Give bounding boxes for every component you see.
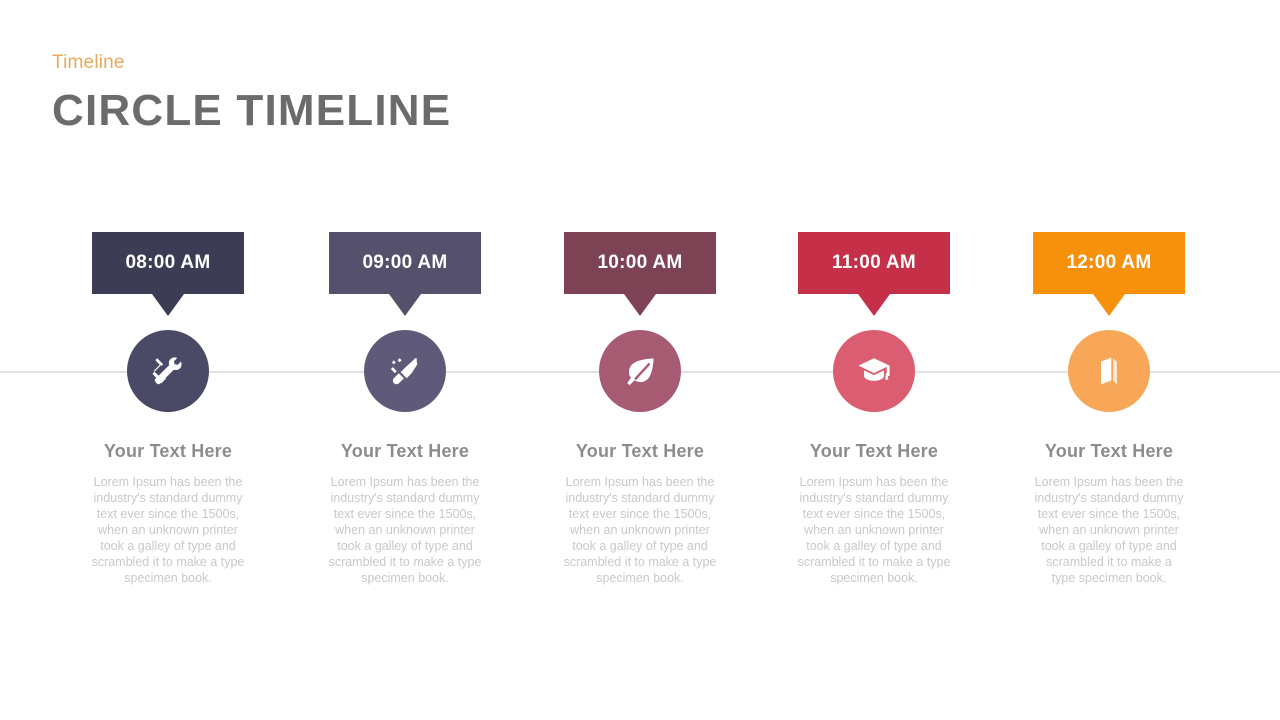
step-body-2: Lorem Ipsum has been the industry's stan… — [322, 474, 488, 586]
time-badge-5[interactable]: 12:00 AM — [1033, 232, 1185, 294]
timeline-step-4[interactable]: 11:00 AM Your Text Here Lorem Ipsum has … — [757, 232, 991, 586]
time-badge-2[interactable]: 09:00 AM — [329, 232, 481, 294]
step-heading-5: Your Text Here — [1045, 441, 1173, 462]
time-badge-label-4: 11:00 AM — [832, 252, 916, 274]
step-circle-4[interactable] — [833, 330, 915, 412]
time-badge-box-5[interactable]: 12:00 AM — [1033, 232, 1185, 294]
step-circle-3[interactable] — [599, 330, 681, 412]
step-body-5: Lorem Ipsum has been the industry's stan… — [1033, 474, 1185, 586]
time-badge-pointer-1 — [152, 294, 184, 316]
step-circle-1[interactable] — [127, 330, 209, 412]
step-heading-1: Your Text Here — [104, 441, 232, 462]
megaphone-icon — [388, 354, 422, 388]
leaf-icon — [623, 354, 657, 388]
time-badge-label-1: 08:00 AM — [125, 252, 210, 274]
time-badge-box-4[interactable]: 11:00 AM — [798, 232, 950, 294]
time-badge-box-3[interactable]: 10:00 AM — [564, 232, 716, 294]
timeline-step-1[interactable]: 08:00 AM Your Text Here Lorem Ipsum has … — [51, 232, 285, 586]
time-badge-label-5: 12:00 AM — [1066, 252, 1151, 274]
step-body-4: Lorem Ipsum has been the industry's stan… — [794, 474, 954, 586]
timeline-step-5[interactable]: 12:00 AM Your Text Here Lorem Ipsum has … — [992, 232, 1226, 586]
time-badge-3[interactable]: 10:00 AM — [564, 232, 716, 294]
time-badge-box-1[interactable]: 08:00 AM — [92, 232, 244, 294]
time-badge-pointer-5 — [1093, 294, 1125, 316]
step-heading-2: Your Text Here — [341, 441, 469, 462]
time-badge-label-2: 09:00 AM — [362, 252, 447, 274]
step-body-3: Lorem Ipsum has been the industry's stan… — [560, 474, 720, 586]
time-badge-1[interactable]: 08:00 AM — [92, 232, 244, 294]
book-icon — [1092, 354, 1126, 388]
step-heading-4: Your Text Here — [810, 441, 938, 462]
step-heading-3: Your Text Here — [576, 441, 704, 462]
time-badge-pointer-4 — [858, 294, 890, 316]
step-body-1: Lorem Ipsum has been the industry's stan… — [85, 474, 251, 586]
timeline-step-2[interactable]: 09:00 AM Your Text Here Lorem Ipsum has … — [288, 232, 522, 586]
timeline-track: 08:00 AM Your Text Here Lorem Ipsum has … — [0, 0, 1280, 720]
time-badge-label-3: 10:00 AM — [597, 252, 682, 274]
tools-icon — [151, 354, 185, 388]
timeline-step-3[interactable]: 10:00 AM Your Text Here Lorem Ipsum has … — [523, 232, 757, 586]
step-circle-2[interactable] — [364, 330, 446, 412]
time-badge-box-2[interactable]: 09:00 AM — [329, 232, 481, 294]
time-badge-4[interactable]: 11:00 AM — [798, 232, 950, 294]
graduation-cap-icon — [857, 354, 891, 388]
step-circle-5[interactable] — [1068, 330, 1150, 412]
time-badge-pointer-3 — [624, 294, 656, 316]
time-badge-pointer-2 — [389, 294, 421, 316]
